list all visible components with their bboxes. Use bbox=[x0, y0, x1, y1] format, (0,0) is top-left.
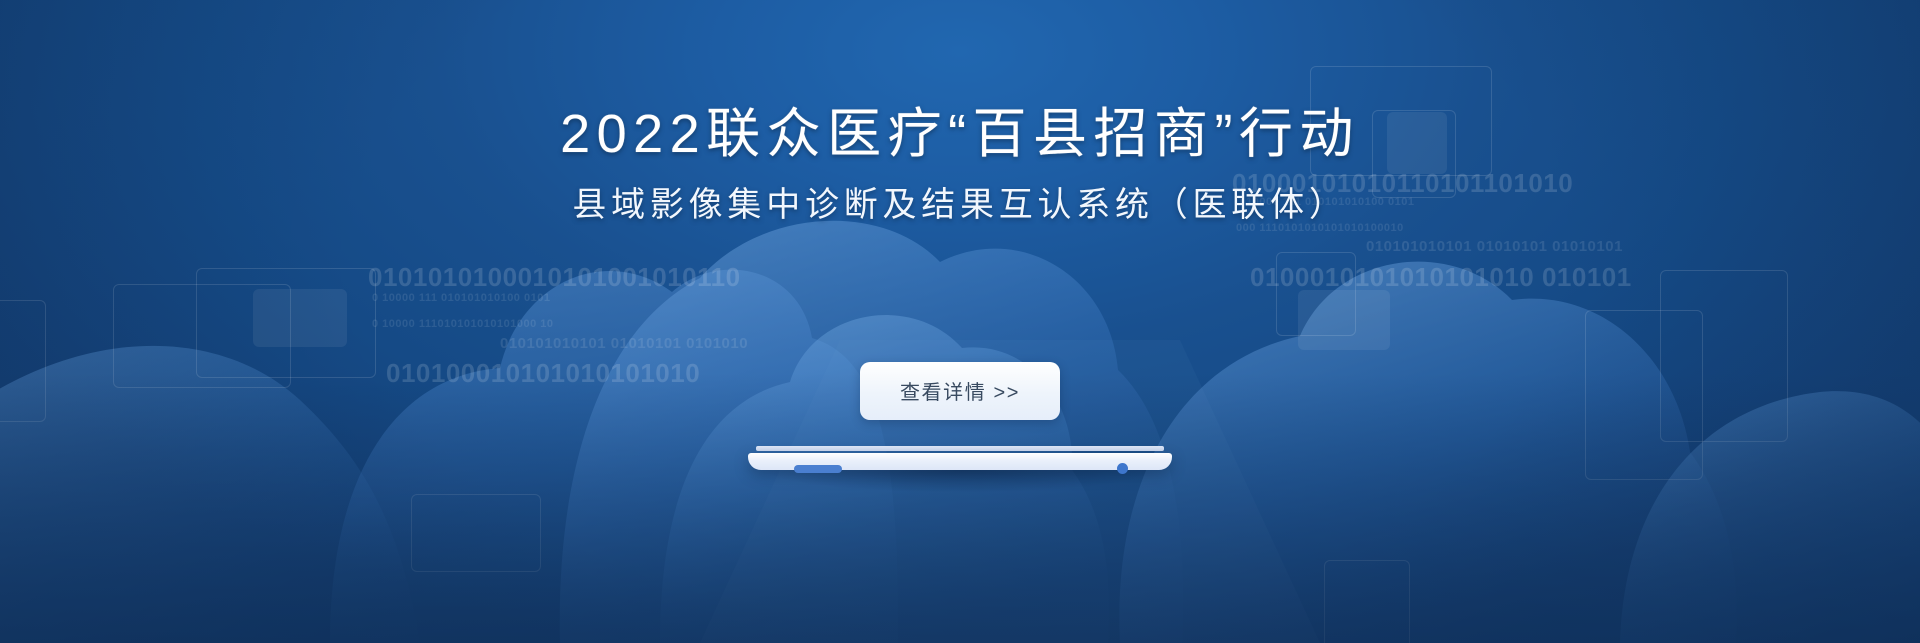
laptop-shadow bbox=[768, 470, 1152, 492]
laptop-notch bbox=[794, 465, 842, 473]
laptop-illustration bbox=[748, 446, 1172, 476]
laptop-base bbox=[748, 453, 1172, 470]
laptop-indicator-dot bbox=[1117, 463, 1128, 474]
headline-block: 2022联众医疗“百县招商”行动 县域影像集中诊断及结果互认系统（医联体） bbox=[0, 0, 1920, 225]
cta-container: 查看详情 >> bbox=[0, 362, 1920, 420]
banner-subtitle: 县域影像集中诊断及结果互认系统（医联体） bbox=[0, 163, 1920, 224]
view-details-button[interactable]: 查看详情 >> bbox=[860, 362, 1060, 420]
laptop-screen-edge bbox=[756, 446, 1164, 451]
banner-title: 2022联众医疗“百县招商”行动 bbox=[0, 0, 1920, 163]
promo-banner: 0101010100010101001010110 0 10000 111 01… bbox=[0, 0, 1920, 643]
